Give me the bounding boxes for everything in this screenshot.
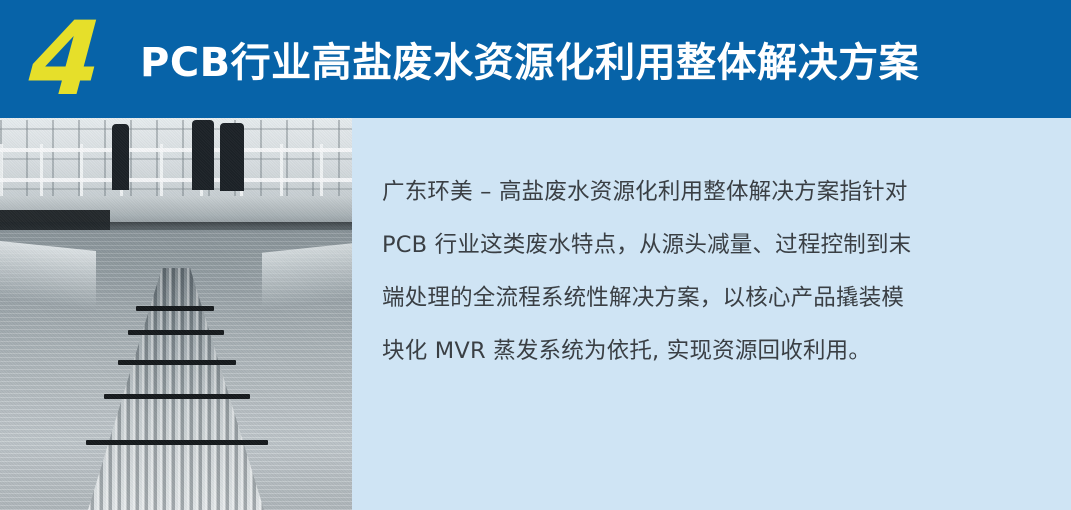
header-band: 4 PCB行业高盐废水资源化利用整体解决方案 xyxy=(0,0,1071,118)
photo-weir-bar xyxy=(136,306,214,311)
description-panel: 广东环美 – 高盐废水资源化利用整体解决方案指针对 PCB 行业这类废水特点，从… xyxy=(352,118,1071,510)
slide-root: 4 PCB行业高盐废水资源化利用整体解决方案 广东环美 – 高盐废水资源化利用整… xyxy=(0,0,1071,510)
photo-weir-bar xyxy=(118,360,236,365)
photo-person-silhouette xyxy=(192,120,214,190)
photo-basin-wall-left xyxy=(0,241,96,311)
description-text: 广东环美 – 高盐废水资源化利用整体解决方案指针对 PCB 行业这类废水特点，从… xyxy=(382,166,1024,378)
wastewater-treatment-photo xyxy=(0,118,352,510)
photo-weir-bar xyxy=(104,394,250,399)
photo-weir-bar xyxy=(86,440,268,445)
photo-person-silhouette xyxy=(112,124,129,190)
photo-basin-wall-right xyxy=(262,243,352,310)
description-line: 端处理的全流程系统性解决方案，以核心产品撬装模 xyxy=(382,272,1024,325)
section-number: 4 xyxy=(27,14,129,106)
photo-weir-bar xyxy=(128,330,224,335)
description-line: PCB 行业这类废水特点，从源头减量、过程控制到末 xyxy=(382,219,1024,272)
description-line: 块化 MVR 蒸发系统为依托, 实现资源回收利用。 xyxy=(382,325,1024,378)
page-title: PCB行业高盐废水资源化利用整体解决方案 xyxy=(140,0,919,118)
photo-person-silhouette xyxy=(220,123,244,191)
description-line: 广东环美 – 高盐废水资源化利用整体解决方案指针对 xyxy=(382,166,1024,219)
